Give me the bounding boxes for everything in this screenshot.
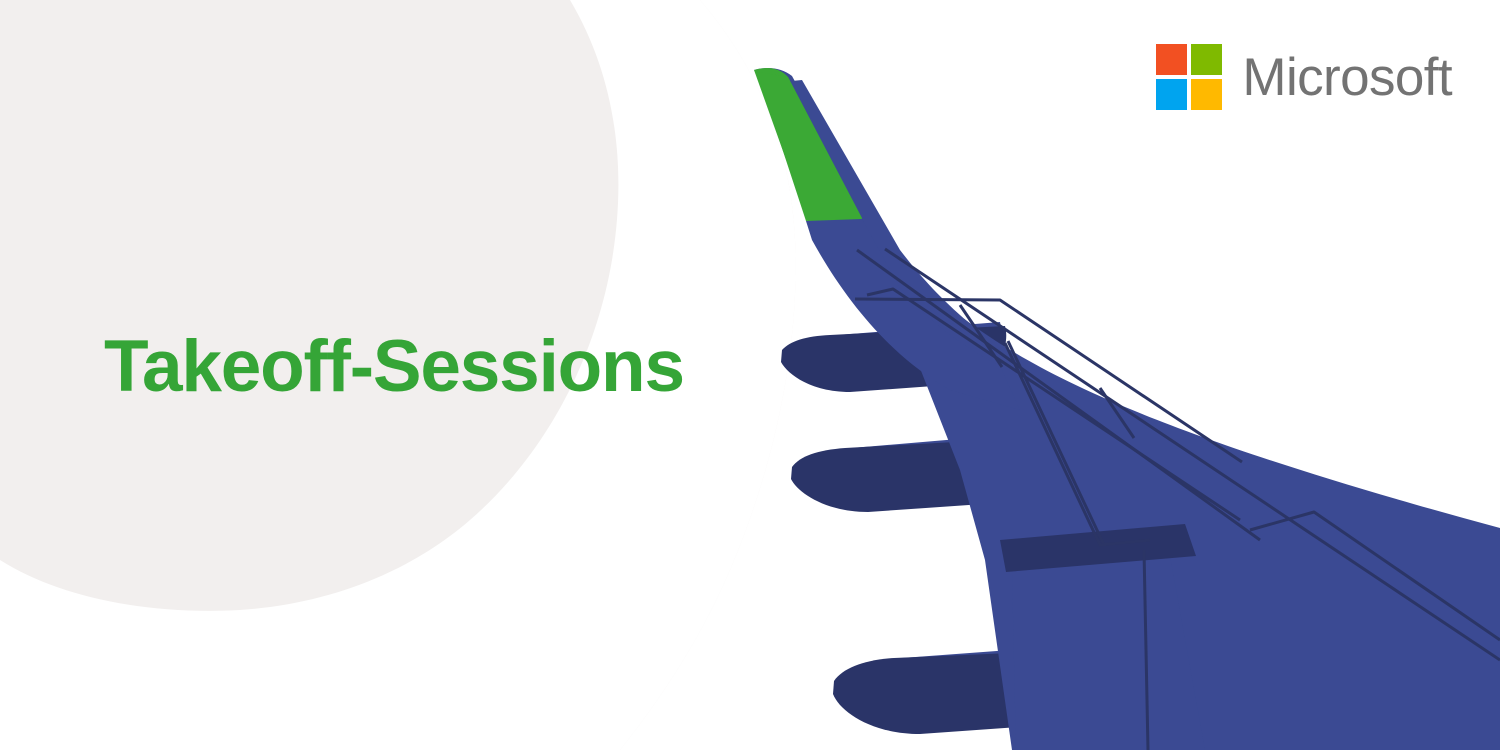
microsoft-red-square-icon	[1156, 44, 1187, 75]
takeoff-sessions-banner: Takeoff-Sessions Microsoft	[0, 0, 1500, 750]
page-title: Takeoff-Sessions	[104, 330, 684, 403]
microsoft-green-square-icon	[1191, 44, 1222, 75]
microsoft-blue-square-icon	[1156, 79, 1187, 110]
microsoft-yellow-square-icon	[1191, 79, 1222, 110]
microsoft-wordmark: Microsoft	[1242, 51, 1452, 104]
microsoft-logo: Microsoft	[1156, 44, 1452, 110]
microsoft-logo-squares-icon	[1156, 44, 1222, 110]
